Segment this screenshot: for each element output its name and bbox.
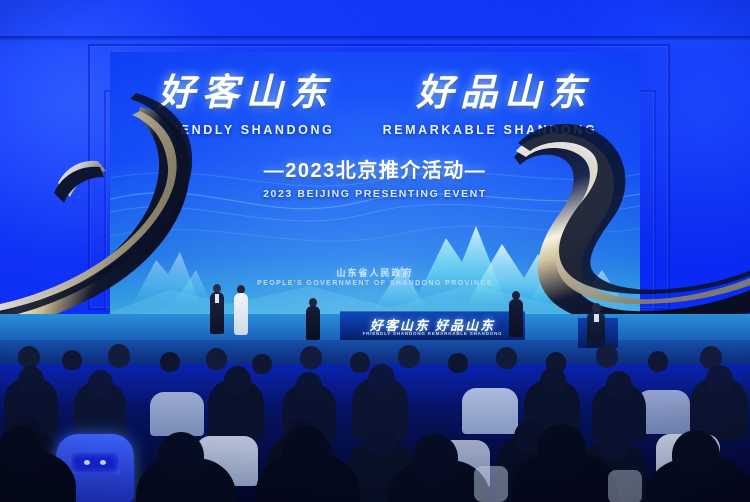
audience-shirt-highlight [474, 466, 508, 502]
audience-head [350, 352, 370, 373]
audience-head [368, 364, 395, 393]
audience-head [252, 354, 272, 374]
stage-person-host-female [232, 285, 250, 335]
chair-panel-dot [100, 460, 106, 465]
audience-head [18, 366, 44, 394]
audience-head [648, 351, 668, 372]
organizer-english: PEOPLE'S GOVERNMENT OF SHANDONG PROVINCE [0, 280, 750, 287]
audience-head [496, 347, 517, 369]
host-female-body [234, 293, 248, 335]
stage-person-staff-center [305, 298, 321, 340]
chair-panel-dot [84, 460, 90, 465]
podium-banner-english: FRIENDLY SHANDONG REMARKABLE SHANDONG [340, 331, 525, 336]
audience-head [398, 345, 420, 368]
audience-head [366, 424, 397, 457]
audience-head [300, 346, 322, 369]
audience-head-foreground [538, 424, 586, 474]
stage-person-staff-right-center [508, 291, 524, 337]
audience-head-foreground [282, 426, 330, 476]
audience-head [62, 350, 82, 370]
led-mountain-graphic [110, 204, 640, 314]
audience-head [706, 365, 733, 394]
organizer-chinese: 山东省人民政府 [0, 266, 750, 279]
audience-head [108, 344, 130, 368]
audience-head [598, 426, 629, 459]
audience-head [448, 353, 468, 373]
event-photo-scene: 好客山东 好品山东 FRIENDLY SHANDONG REMARKABLE S… [0, 0, 750, 502]
audience-head [296, 372, 322, 399]
stage-person-host-male [208, 284, 226, 334]
audience-head [18, 346, 40, 368]
speaker-right-shirt [594, 314, 599, 322]
audience-head [206, 348, 227, 370]
audience-head [88, 370, 113, 397]
audience-chair [462, 388, 518, 434]
staff-right-center-body [509, 299, 523, 337]
audience-head-foreground [158, 432, 204, 480]
audience-area [0, 340, 750, 502]
audience-head [540, 367, 566, 395]
audience-chair [150, 392, 204, 436]
stage-banner-podium: 好客山东 好品山东 FRIENDLY SHANDONG REMARKABLE S… [340, 311, 525, 340]
host-male-shirt [215, 294, 219, 303]
audience-head [160, 352, 180, 372]
audience-head [224, 366, 251, 395]
audience-head-foreground [412, 434, 458, 482]
chair-back-light-panel [70, 452, 120, 474]
audience-head [606, 371, 632, 398]
audience-shirt-highlight [608, 470, 642, 502]
audience-head-foreground [672, 430, 720, 480]
audience-head-foreground [0, 426, 42, 472]
audience-head [596, 344, 618, 368]
staff-center-body [306, 306, 320, 340]
